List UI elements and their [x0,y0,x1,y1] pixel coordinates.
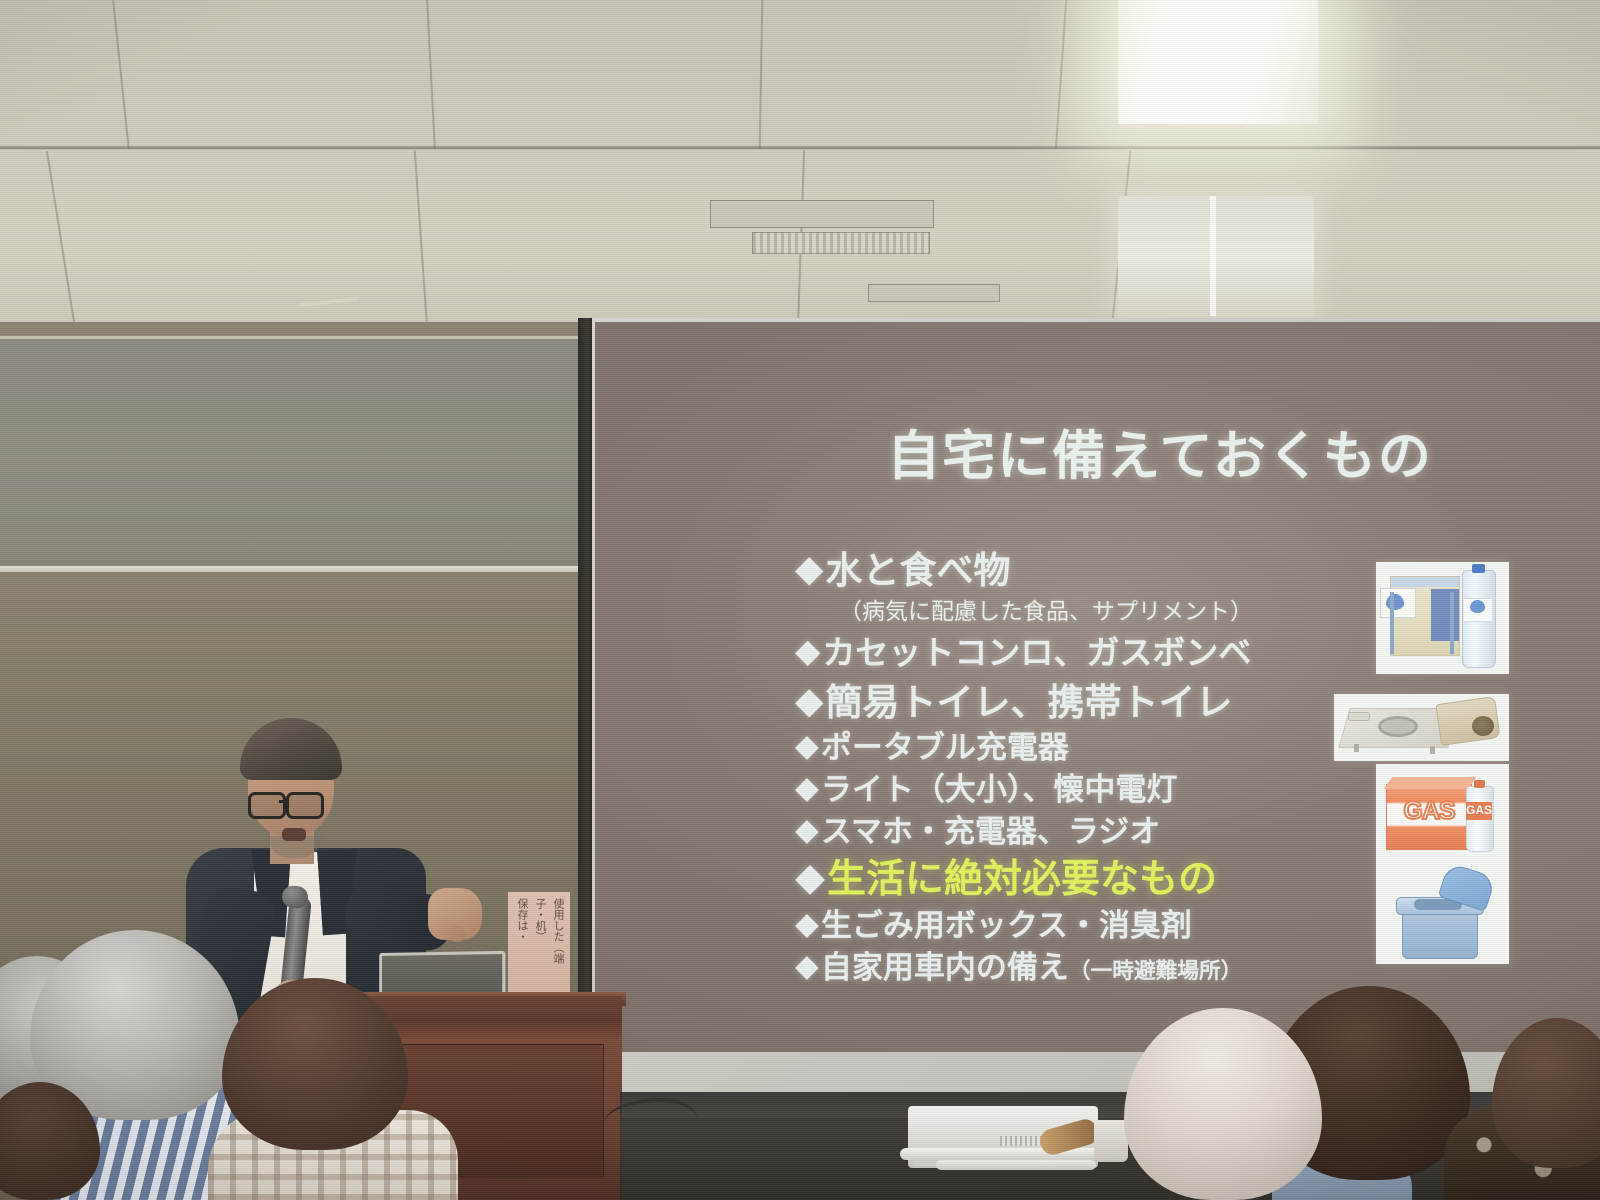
wall-whiteboard [0,336,580,575]
list-item-subnote: （病気に配慮した食品、サプリメント） [839,592,1253,626]
list-item-label: 生ごみ用ボックス・消臭剤 [821,908,1192,943]
eyeglasses-icon [286,792,324,819]
list-item-tail: （一時避難場所） [1069,958,1243,983]
list-item-label: 自家用車内の備え [821,950,1069,985]
portable-toilet-bin-photo [1376,863,1509,964]
diamond-bullet-icon: ◆ [795,812,819,848]
list-item-label: ポータブル充電器 [821,730,1069,765]
list-item: ◆自家用車内の備え（一時避難場所） [795,942,1242,987]
diamond-bullet-icon: ◆ [795,547,823,590]
gas-cartridge-box-photo: GAS GAS [1376,764,1509,863]
projector-stand-lower [936,1160,1096,1170]
list-item: ◆スマホ・充電器、ラジオ [795,806,1160,851]
list-item-label: ライト（大小）、懐中電灯 [821,772,1178,807]
list-item: ◆簡易トイレ、携帯トイレ [795,672,1232,726]
projector-stand [900,1148,1116,1160]
list-item: ◆ポータブル充電器 [795,722,1069,767]
list-item-label: （病気に配慮した食品、サプリメント） [839,598,1253,624]
list-item-label: スマホ・充電器、ラジオ [821,814,1160,849]
list-item: ◆カセットコンロ、ガスボンベ [795,626,1251,674]
list-item-highlighted: ◆生活に絶対必要なもの [795,848,1217,904]
projected-slide: 自宅に備えておくもの ◆水と食べ物 （病気に配慮した食品、サプリメント） ◆カセ… [595,322,1600,1052]
list-item-label: カセットコンロ、ガスボンベ [822,634,1251,671]
diamond-bullet-icon: ◆ [795,855,825,900]
bottled-water-case-photo [1376,562,1509,674]
lecture-photo-scene: 自宅に備えておくもの ◆水と食べ物 （病気に配慮した食品、サプリメント） ◆カセ… [0,0,1600,1200]
recessed-ceiling-light [1118,0,1318,124]
diamond-bullet-icon: ◆ [795,728,819,764]
diamond-bullet-icon: ◆ [795,631,820,670]
diamond-bullet-icon: ◆ [795,770,819,806]
cassette-gas-stove-photo [1334,694,1509,761]
eyeglasses-icon [248,792,286,819]
diamond-bullet-icon: ◆ [795,906,819,942]
gas-box-label: GAS [1390,797,1468,826]
sign-text-column: 使用した（端 [550,898,566,1004]
ceiling-air-vent [710,200,934,228]
presenter-hair [240,718,342,780]
sign-text-column: 保存は・ [514,898,530,1004]
list-item-label: 水と食べ物 [825,550,1010,591]
paper-cup [1094,1120,1128,1162]
list-item-label: 生活に絶対必要なもの [827,858,1217,901]
list-item: ◆生ごみ用ボックス・消臭剤 [795,900,1192,945]
list-item: ◆水と食べ物 [795,540,1010,594]
sign-text-column: 子・机） [532,898,548,1004]
ceiling-air-vent-lower [868,284,1000,302]
diamond-bullet-icon: ◆ [795,679,823,722]
gas-can-label: GAS [1466,803,1492,817]
slide-title: 自宅に備えておくもの [840,430,1480,483]
diamond-bullet-icon: ◆ [795,948,819,984]
list-item: ◆ライト（大小）、懐中電灯 [795,764,1177,809]
list-item-label: 簡易トイレ、携帯トイレ [825,682,1232,723]
ceiling [0,0,1600,330]
ceiling-air-vent-slats [752,232,930,254]
recessed-ceiling-light-secondary [1118,196,1314,316]
